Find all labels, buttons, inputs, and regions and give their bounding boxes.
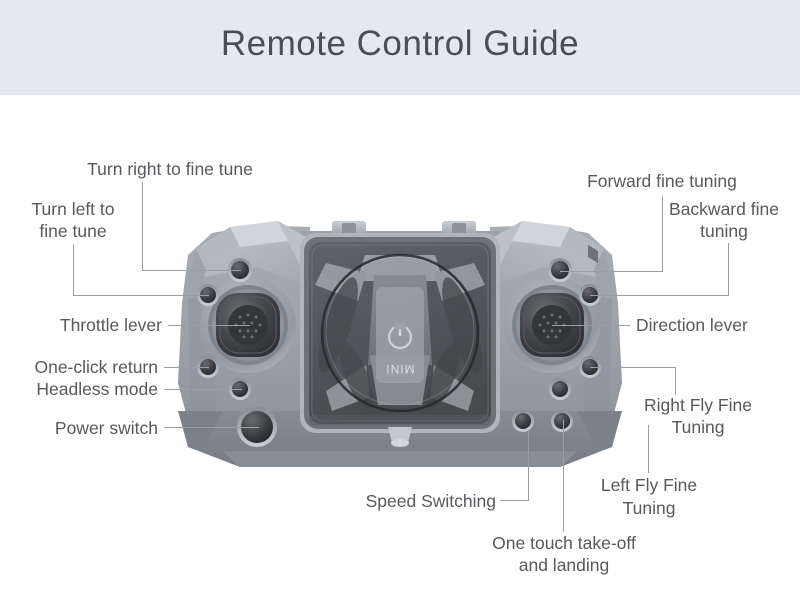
callout-direction-lever: Direction lever (636, 314, 800, 336)
leader-line-right-fly-v (675, 367, 676, 395)
callout-left-fly-fine-tuning-line1: Left Fly Fine (570, 474, 728, 496)
leader-line-speed-switching-h (500, 500, 529, 501)
callout-throttle-lever: Throttle lever (0, 314, 162, 336)
trim-button-right-lower (549, 378, 571, 400)
one-touch-takeoff-button (512, 410, 534, 432)
callout-left-fly-fine-tuning-line2: Tuning (570, 497, 728, 519)
callout-speed-switching: Speed Switching (300, 490, 496, 512)
callout-turn-right-fine-tune: Turn right to fine tune (40, 158, 300, 180)
leader-line-takeoff-v (563, 420, 564, 532)
leader-line-backward-v (728, 243, 729, 295)
callout-turn-left-fine-tune-line2: fine tune (0, 220, 146, 242)
drone-top-plate: MINI (376, 287, 424, 383)
page-title: Remote Control Guide (0, 24, 800, 64)
callout-right-fly-fine-tuning-line1: Right Fly Fine (608, 394, 788, 416)
callout-backward-fine-tuning-line1: Backward fine (648, 198, 800, 220)
leader-line-one-click-return (164, 367, 209, 368)
svg-text:MINI: MINI (385, 362, 414, 376)
leader-line-throttle (168, 325, 250, 326)
leader-line-forward-h (560, 271, 663, 272)
leader-line-direction (552, 325, 630, 326)
leader-line-power-switch (164, 427, 259, 428)
leader-line-turn-left-h (73, 295, 209, 296)
callout-one-click-return: One-click return (0, 356, 158, 378)
leader-line-turn-right-h (142, 270, 241, 271)
leader-line-turn-left-v (73, 245, 74, 295)
callout-one-touch-takeoff-line1: One touch take-off (452, 532, 676, 554)
guide-page: Remote Control Guide (0, 0, 800, 609)
trim-button-forward (548, 258, 572, 282)
leader-line-right-fly-h (590, 367, 676, 368)
drone-compartment: MINI (300, 221, 500, 447)
callout-headless-mode: Headless mode (0, 378, 158, 400)
remote-controller-illustration: MINI (160, 215, 640, 487)
callout-one-touch-takeoff-line2: and landing (452, 554, 676, 576)
callout-backward-fine-tuning-line2: tuning (648, 220, 800, 242)
callout-power-switch: Power switch (0, 417, 158, 439)
leader-line-speed-switching-v (528, 430, 529, 501)
callout-right-fly-fine-tuning-line2: Tuning (608, 416, 788, 438)
leader-line-backward-h (590, 295, 729, 296)
left-fly-fine-tuning-button (551, 410, 573, 432)
leader-line-headless-mode (164, 389, 242, 390)
callout-forward-fine-tuning: Forward fine tuning (540, 170, 784, 192)
callout-turn-left-fine-tune-line1: Turn left to (0, 198, 146, 220)
brand-text-mini: MINI (385, 362, 414, 376)
page-header: Remote Control Guide (0, 0, 800, 95)
